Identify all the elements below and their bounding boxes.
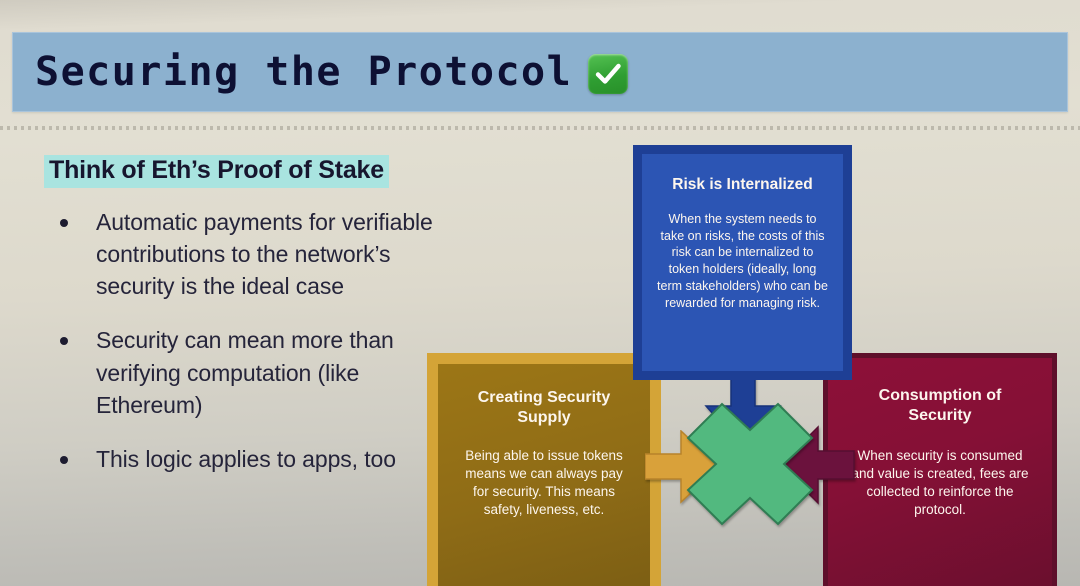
card-body: When the system needs to take on risks, … — [656, 211, 829, 312]
card-body: Being able to issue tokens means we can … — [456, 447, 632, 519]
card-title: Risk is Internalized — [672, 176, 812, 195]
diagram-card-risk-internalized: Risk is Internalized When the system nee… — [633, 145, 852, 380]
diagram-card-creating-security-supply: Creating Security Supply Being able to i… — [427, 353, 661, 586]
diagram-card-consumption-of-security: Consumption of Security When security is… — [823, 353, 1057, 586]
card-title: Creating Security Supply — [456, 388, 632, 427]
card-body: When security is consumed and value is c… — [846, 447, 1034, 519]
convergence-cross-icon — [686, 402, 814, 531]
card-title: Consumption of Security — [846, 386, 1034, 425]
security-flow-diagram: Risk is Internalized When the system nee… — [0, 0, 1080, 586]
slide: Securing the Protocol Think of Eth’s Pro… — [0, 0, 1080, 586]
